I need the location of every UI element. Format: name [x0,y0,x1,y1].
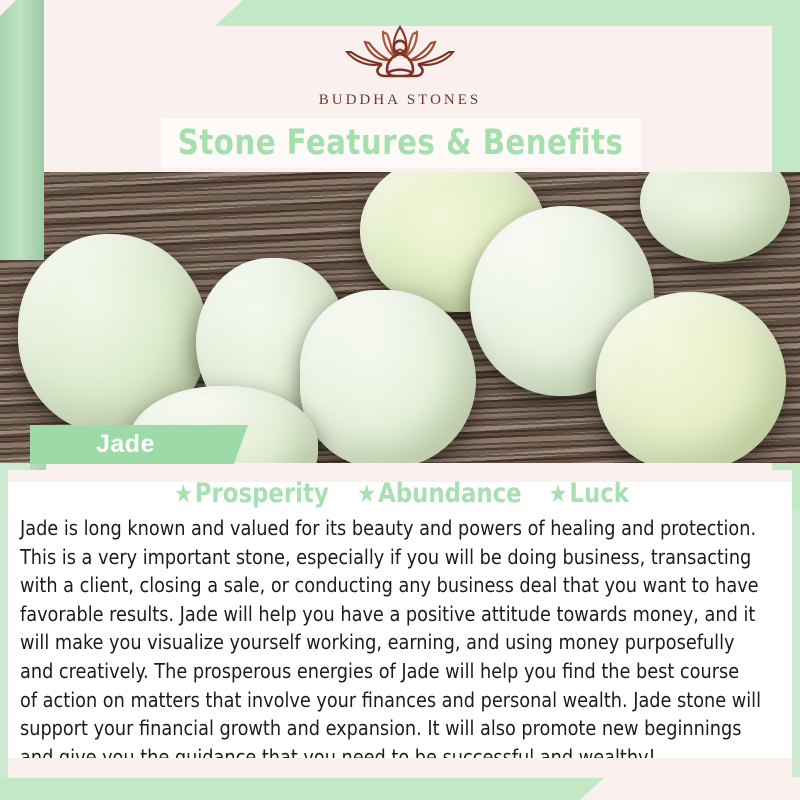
benefit-item-abundance: ★Abundance [357,478,521,509]
title-banner: Stone Features & Benefits [162,119,640,167]
stone-shape [300,290,476,463]
brand-block: BUDDHA STONES [0,18,800,109]
benefit-label: Luck [569,478,629,509]
content-bottom-fade [8,758,792,778]
brand-name: BUDDHA STONES [0,92,800,109]
stone-photo [0,172,800,463]
accent-rule-right [792,511,800,777]
poster-canvas: BUDDHA STONES Stone Features & Benefits … [0,0,800,800]
stone-name-badge: Jade [30,425,248,464]
accent-rule-left [0,511,8,777]
description-text: Jade is long known and valued for its be… [20,514,761,771]
benefit-label: Abundance [378,478,522,509]
stone-shape [596,292,786,463]
benefit-item-luck: ★Luck [548,478,628,509]
benefits-row: ★Prosperity ★Abundance ★Luck [8,478,792,509]
stone-name-label: Jade [96,430,155,459]
star-icon: ★ [357,479,376,508]
benefit-item-prosperity: ★Prosperity [174,478,329,509]
page-title: Stone Features & Benefits [178,123,624,163]
lotus-meditation-icon [325,18,475,88]
star-icon: ★ [548,479,567,508]
benefit-label: Prosperity [195,478,329,509]
accent-band-left [0,0,44,260]
star-icon: ★ [174,479,193,508]
content-card: ★Prosperity ★Abundance ★Luck Jade is lon… [8,470,792,778]
